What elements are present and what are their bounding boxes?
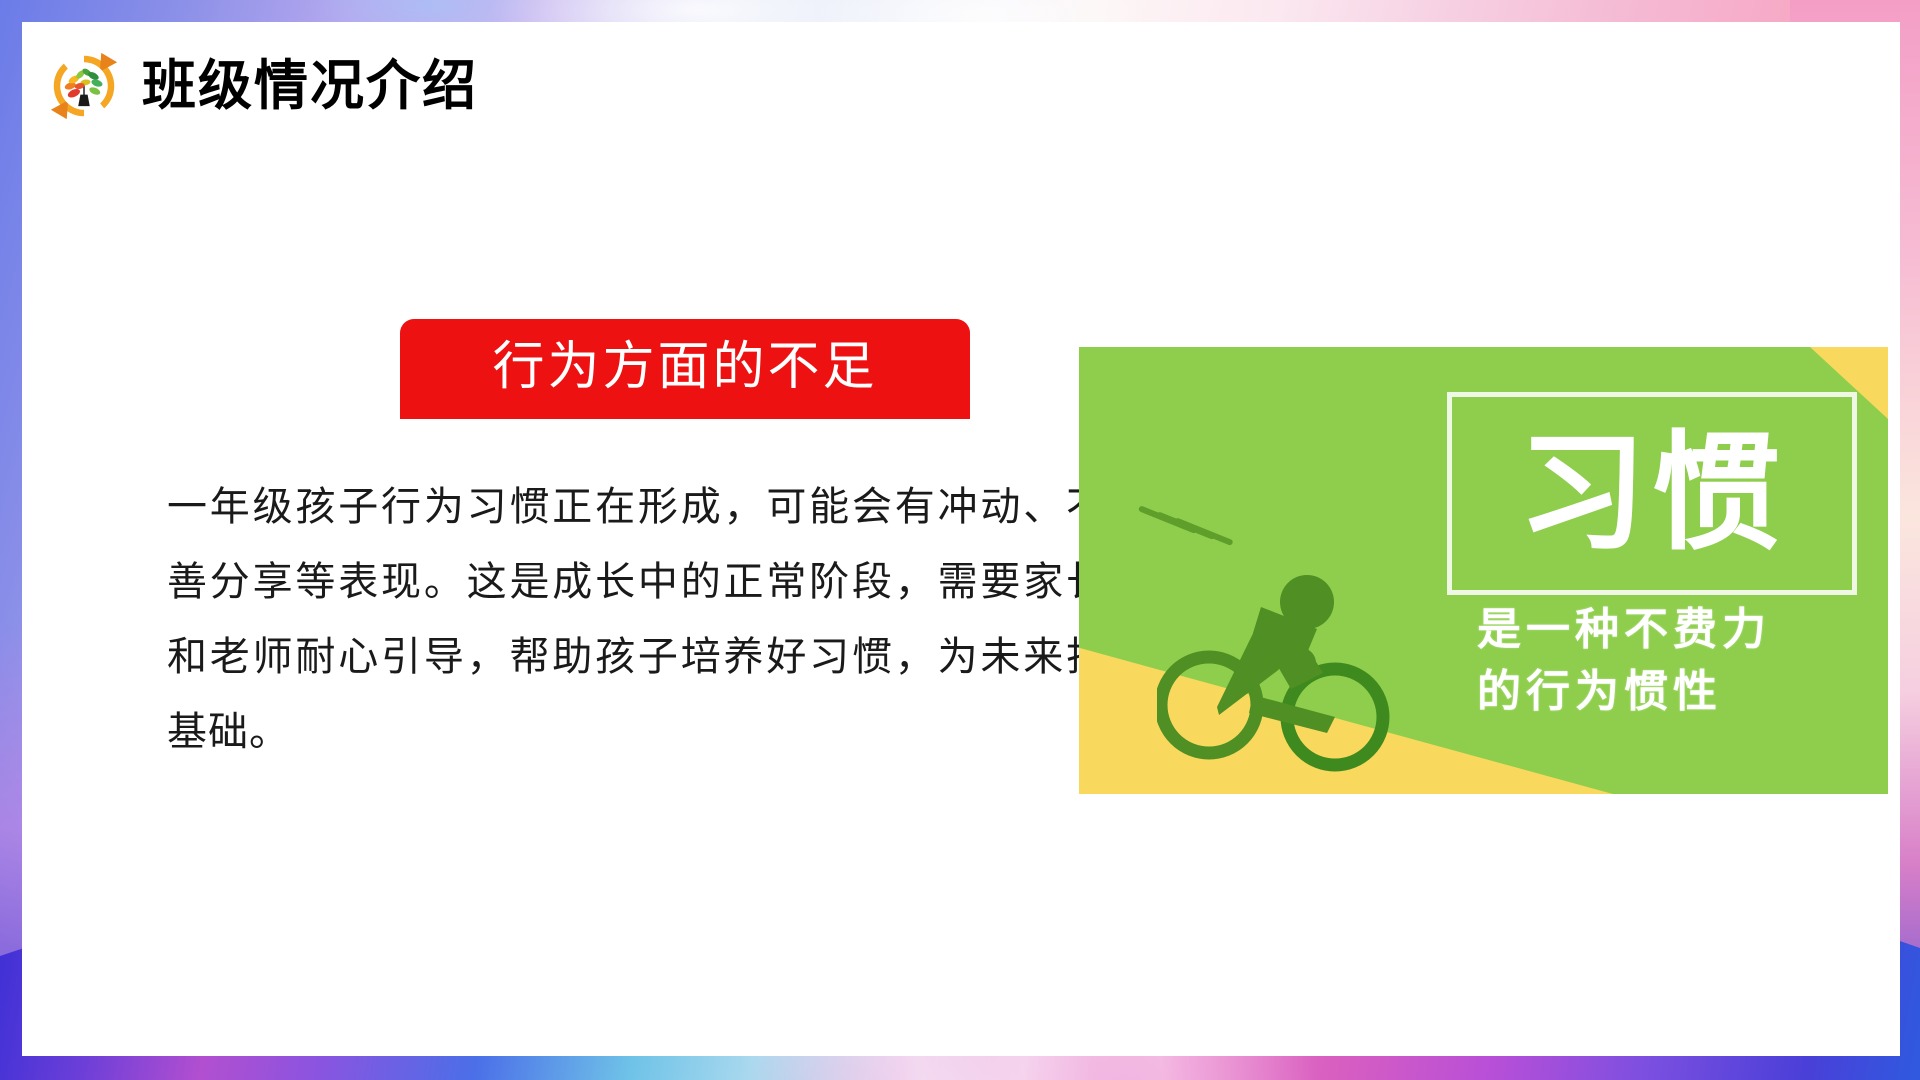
page-title: 班级情况介绍 (142, 59, 478, 113)
section-banner-label: 行为方面的不足 (492, 341, 877, 393)
body-paragraph: 一年级孩子行为习惯正在形成，可能会有冲动、不善分享等表现。这是成长中的正常阶段，… (167, 470, 1107, 770)
habit-headline: 习惯 (1518, 430, 1786, 558)
habit-subline-2: 的行为惯性 (1477, 661, 1837, 723)
section-banner: 行为方面的不足 (400, 319, 970, 419)
habit-subline-group: 是一种不费力 的行为惯性 (1477, 599, 1837, 723)
habit-subline-1: 是一种不费力 (1477, 599, 1837, 661)
slide-content-card: 班级情况介绍 行为方面的不足 一年级孩子行为习惯正在形成，可能会有冲动、不善分享… (22, 22, 1900, 1056)
slide-header: 班级情况介绍 (48, 50, 478, 122)
speed-lines-icon (1139, 503, 1249, 547)
habit-headline-frame: 习惯 (1447, 392, 1857, 595)
growing-tree-logo-icon (48, 50, 120, 122)
slide-root: 班级情况介绍 行为方面的不足 一年级孩子行为习惯正在形成，可能会有冲动、不善分享… (0, 0, 1920, 1080)
cyclist-icon (1157, 547, 1397, 777)
habit-poster-image: 习惯 是一种不费力 的行为惯性 (1079, 347, 1888, 794)
